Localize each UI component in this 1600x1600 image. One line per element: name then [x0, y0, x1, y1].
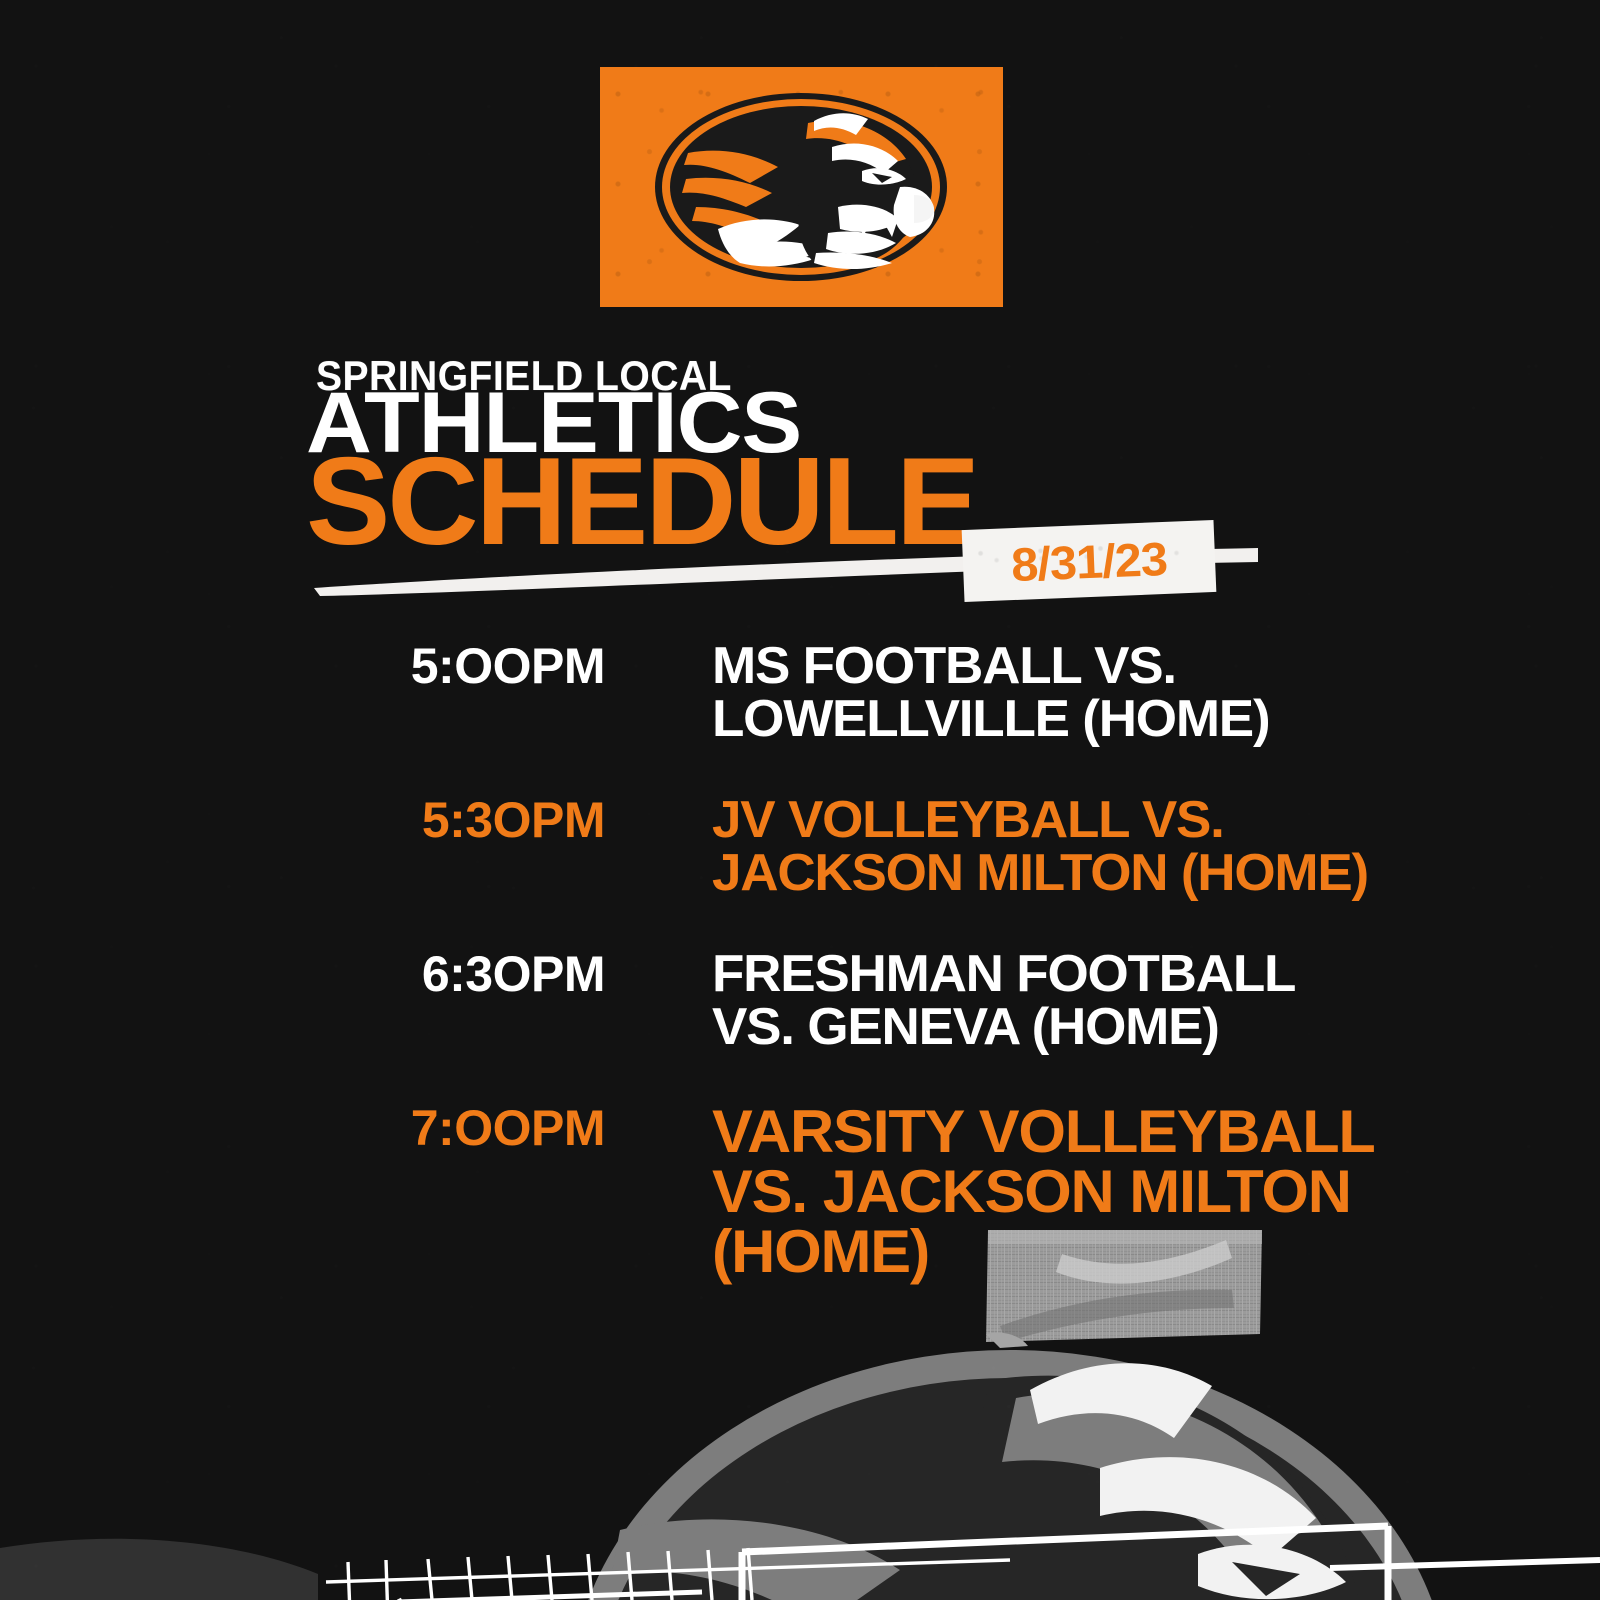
- schedule-row: 7:OOPM VARSITY VOLLEYBALL VS. JACKSON MI…: [0, 1102, 1600, 1282]
- event-line: MS FOOTBALL VS.: [712, 640, 1269, 693]
- event-time: 5:3OPM: [0, 794, 605, 847]
- event-line: LOWELLVILLE (HOME): [712, 693, 1269, 746]
- team-logo-card: [600, 67, 1003, 307]
- event-line: VS. GENEVA (HOME): [712, 1001, 1295, 1054]
- schedule-date: 8/31/23: [962, 529, 1217, 594]
- event-line: FRESHMAN FOOTBALL: [712, 948, 1295, 1001]
- event-line: JACKSON MILTON (HOME): [712, 847, 1368, 900]
- event-line: VS. JACKSON MILTON: [712, 1162, 1375, 1222]
- schedule-row: 5:OOPM MS FOOTBALL VS. LOWELLVILLE (HOME…: [0, 640, 1600, 746]
- event-time: 5:OOPM: [0, 640, 605, 693]
- event-name: FRESHMAN FOOTBALL VS. GENEVA (HOME): [712, 948, 1295, 1054]
- schedule-list: 5:OOPM MS FOOTBALL VS. LOWELLVILLE (HOME…: [0, 640, 1600, 1330]
- event-name: JV VOLLEYBALL VS. JACKSON MILTON (HOME): [712, 794, 1368, 900]
- schedule-row: 5:3OPM JV VOLLEYBALL VS. JACKSON MILTON …: [0, 794, 1600, 900]
- date-tape-label: 8/31/23: [962, 520, 1217, 602]
- event-name: VARSITY VOLLEYBALL VS. JACKSON MILTON (H…: [712, 1102, 1375, 1282]
- event-name: MS FOOTBALL VS. LOWELLVILLE (HOME): [712, 640, 1269, 746]
- event-line: VARSITY VOLLEYBALL: [712, 1102, 1375, 1162]
- tiger-head-logo-icon: [600, 67, 1003, 307]
- schedule-row: 6:3OPM FRESHMAN FOOTBALL VS. GENEVA (HOM…: [0, 948, 1600, 1054]
- event-line: (HOME): [712, 1222, 1375, 1282]
- event-time: 7:OOPM: [0, 1102, 605, 1155]
- athletics-schedule-poster: SPRINGFIELD LOCAL ATHLETICS SCHEDULE 8/3…: [0, 0, 1600, 1600]
- event-line: JV VOLLEYBALL VS.: [712, 794, 1368, 847]
- event-time: 6:3OPM: [0, 948, 605, 1001]
